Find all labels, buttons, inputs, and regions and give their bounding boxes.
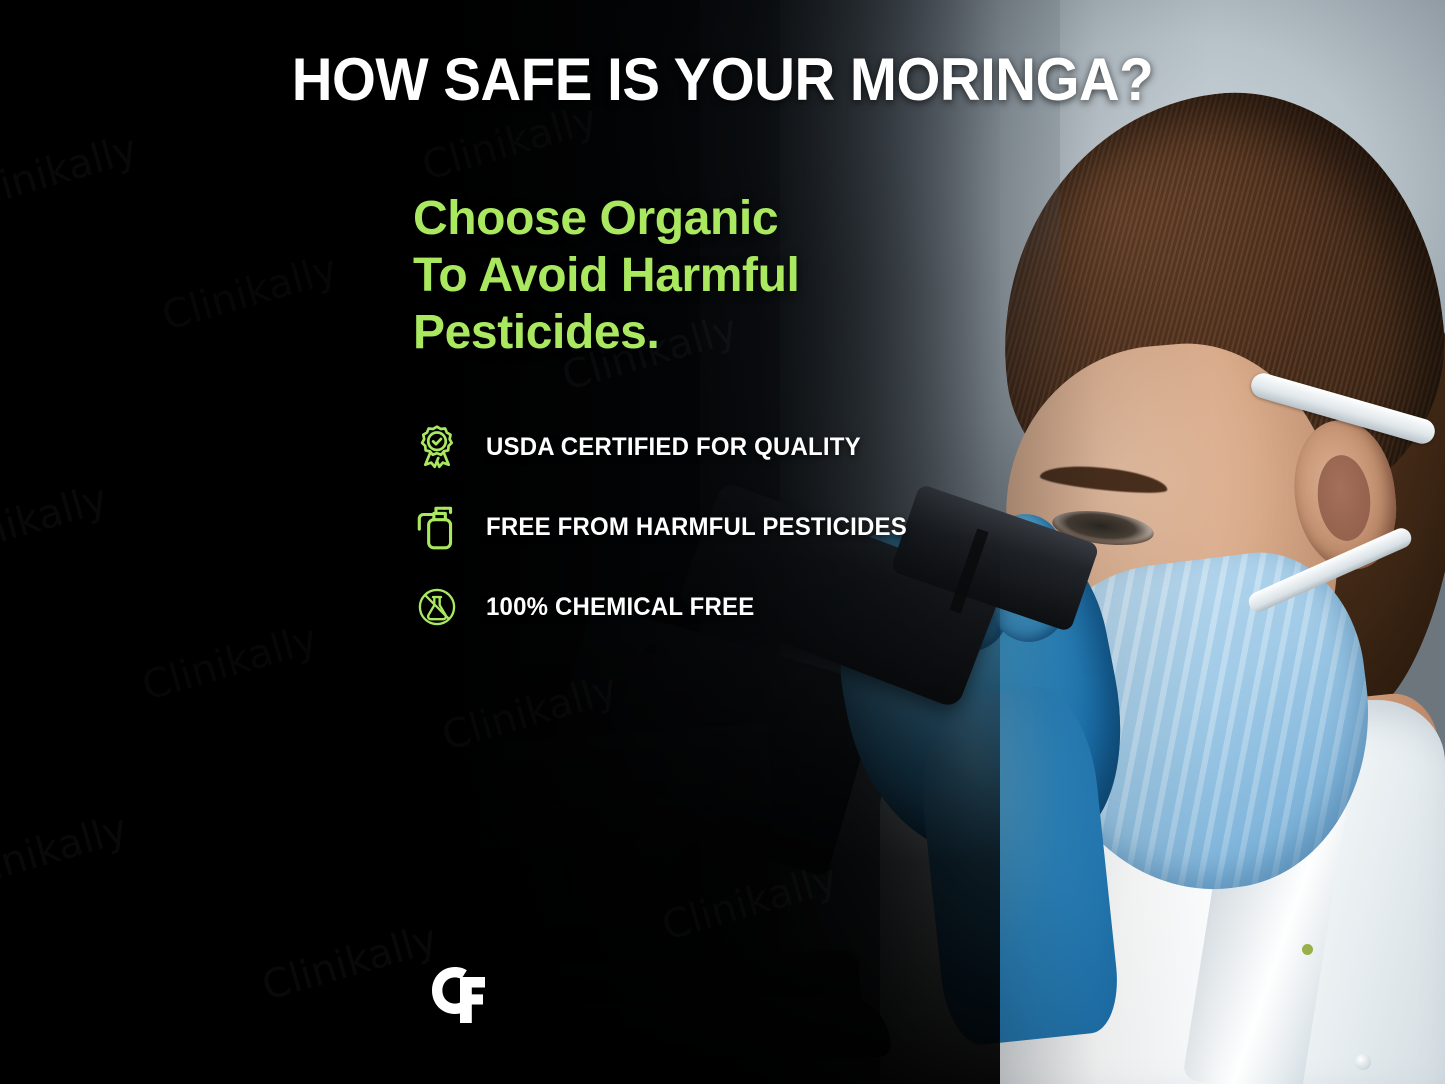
benefit-label: FREE FROM HARMFUL PESTICIDES — [486, 513, 907, 542]
subheading: Choose Organic To Avoid Harmful Pesticid… — [413, 190, 799, 361]
benefit-item-pesticide-free: FREE FROM HARMFUL PESTICIDES — [410, 500, 925, 554]
benefit-label: USDA CERTIFIED FOR QUALITY — [486, 433, 861, 462]
benefit-item-usda: USDA CERTIFIED FOR QUALITY — [410, 420, 925, 474]
subheading-line-2: To Avoid Harmful — [413, 247, 799, 304]
no-chemicals-flask-icon — [413, 583, 462, 632]
benefits-list: USDA CERTIFIED FOR QUALITY FREE FROM HAR… — [410, 420, 925, 634]
poster-content: HOW SAFE IS YOUR MORINGA? Choose Organic… — [0, 0, 1445, 1084]
subheading-line-3: Pesticides. — [413, 304, 799, 361]
page-title: HOW SAFE IS YOUR MORINGA? — [43, 45, 1401, 114]
moringa-safety-poster: Clinikally Clinikally Clinikally Clinika… — [0, 0, 1445, 1084]
spray-bottle-icon — [410, 500, 464, 554]
benefit-label: 100% CHEMICAL FREE — [486, 593, 754, 622]
cf-monogram-logo — [424, 964, 488, 1026]
award-badge-check-icon — [410, 420, 464, 474]
subheading-line-1: Choose Organic — [413, 190, 799, 247]
benefit-item-chemical-free: 100% CHEMICAL FREE — [410, 580, 925, 634]
